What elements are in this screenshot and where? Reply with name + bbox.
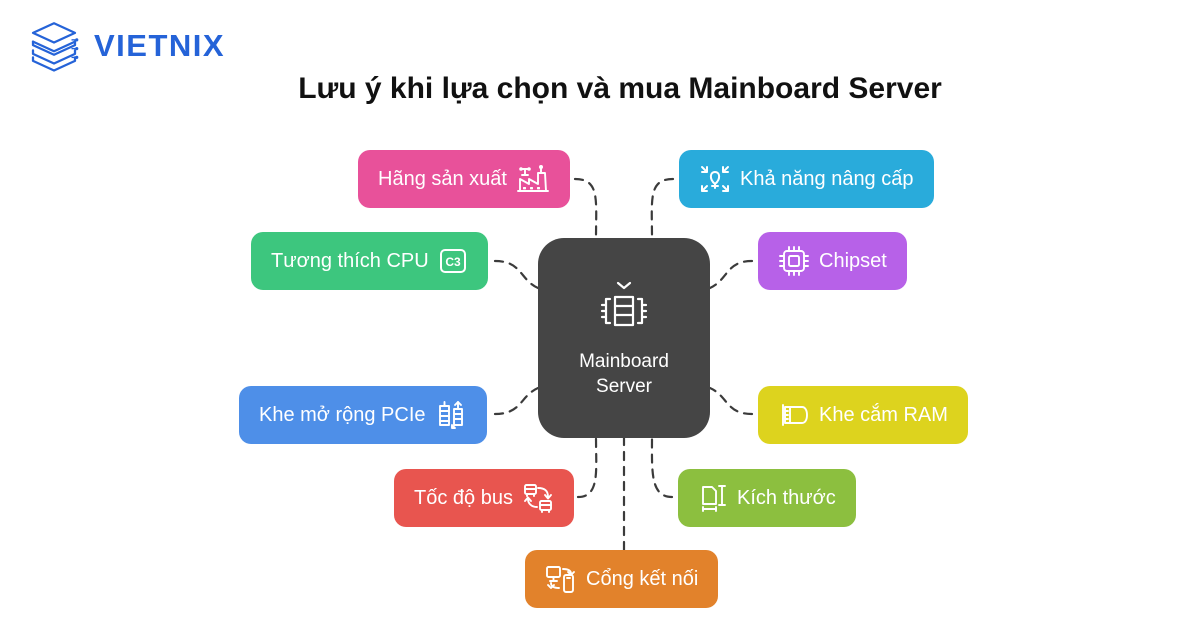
ram-slot-icon	[778, 399, 810, 431]
node-label-kha-nang-nang-cap: Khả năng nâng cấp	[740, 168, 914, 191]
node-chipset[interactable]: Chipset	[758, 232, 907, 290]
node-label-tuong-thich-cpu: Tương thích CPU	[271, 250, 429, 273]
node-label-hang-san-xuat: Hãng sản xuất	[378, 168, 507, 191]
pcie-slot-icon	[435, 399, 467, 431]
node-label-cong-ket-noi: Cổng kết nối	[586, 568, 698, 591]
connector-hang-san-xuat	[575, 179, 596, 238]
connection-ports-icon	[545, 563, 577, 595]
node-khe-cam-ram[interactable]: Khe cắm RAM	[758, 386, 968, 444]
node-khe-mo-rong-pcie[interactable]: Khe mở rộng PCIe	[239, 386, 487, 444]
node-label-khe-mo-rong-pcie: Khe mở rộng PCIe	[259, 404, 426, 427]
node-hang-san-xuat[interactable]: Hãng sản xuất	[358, 150, 570, 208]
cpu-c3-icon: C3	[438, 246, 468, 276]
microchip-icon	[778, 245, 810, 277]
mindmap-diagram: Mainboard Server Hãng sản xuất	[0, 0, 1200, 630]
connector-chipset	[710, 261, 752, 288]
dimensions-icon	[698, 482, 728, 514]
connector-kich-thuoc	[652, 438, 672, 497]
server-board-icon	[595, 277, 653, 339]
center-node-mainboard-server[interactable]: Mainboard Server	[538, 238, 710, 438]
node-label-kich-thuoc: Kích thước	[737, 487, 836, 510]
center-node-label: Mainboard Server	[579, 349, 669, 399]
connector-kha-nang-nang-cap	[652, 179, 673, 238]
node-label-chipset: Chipset	[819, 250, 887, 273]
node-tuong-thich-cpu[interactable]: Tương thích CPU C3	[251, 232, 488, 290]
connector-pcie	[495, 388, 538, 414]
connector-ram	[710, 388, 752, 414]
factory-icon	[516, 164, 550, 194]
node-toc-do-bus[interactable]: Tốc độ bus	[394, 469, 574, 527]
node-label-khe-cam-ram: Khe cắm RAM	[819, 404, 948, 427]
node-label-toc-do-bus: Tốc độ bus	[414, 487, 513, 510]
connector-tuong-thich-cpu	[495, 261, 538, 288]
node-cong-ket-noi[interactable]: Cổng kết nối	[525, 550, 718, 608]
svg-text:C3: C3	[445, 255, 461, 269]
node-kha-nang-nang-cap[interactable]: Khả năng nâng cấp	[679, 150, 934, 208]
node-kich-thuoc[interactable]: Kích thước	[678, 469, 856, 527]
bus-speed-icon	[522, 482, 554, 514]
connector-toc-do-bus	[578, 438, 596, 497]
upgrade-arrows-icon	[699, 164, 731, 194]
